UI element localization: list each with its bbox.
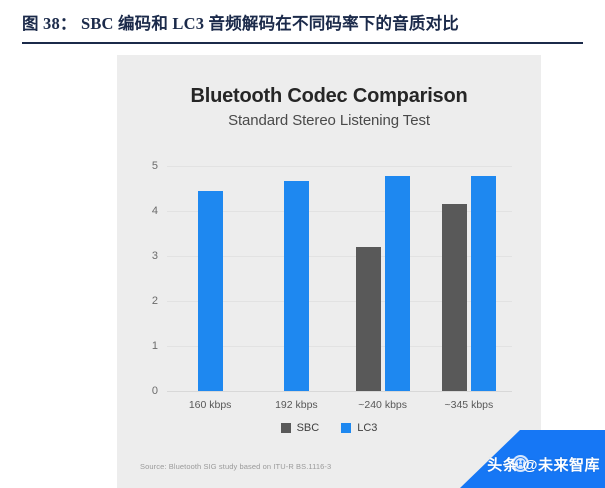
bar-group bbox=[253, 166, 339, 391]
figure-caption: 图 38： SBC 编码和 LC3 音频解码在不同码率下的音质对比 bbox=[22, 10, 591, 34]
y-axis-tick-label: 1 bbox=[152, 340, 158, 352]
y-axis-tick-label: 0 bbox=[152, 385, 158, 397]
bar-sbc[interactable] bbox=[442, 204, 467, 391]
legend-swatch-icon bbox=[281, 423, 291, 433]
bars-layer bbox=[167, 166, 512, 391]
bar-group bbox=[340, 166, 426, 391]
chart-source-note: Source: Bluetooth SIG study based on ITU… bbox=[140, 462, 331, 471]
y-axis-tick-label: 2 bbox=[152, 295, 158, 307]
legend-swatch-icon bbox=[341, 423, 351, 433]
bar-group bbox=[426, 166, 512, 391]
chart-subtitle: Standard Stereo Listening Test bbox=[117, 112, 541, 129]
plot-area: 012345 160 kbps192 kbps~240 kbps~345 kbp… bbox=[167, 166, 512, 391]
bar-sbc[interactable] bbox=[356, 247, 381, 391]
bar-lc3[interactable] bbox=[284, 181, 309, 391]
bar-lc3[interactable] bbox=[198, 191, 223, 391]
figure-header: 图 38： SBC 编码和 LC3 音频解码在不同码率下的音质对比 bbox=[0, 0, 605, 48]
x-axis-tick-label: ~345 kbps bbox=[414, 399, 524, 411]
header-divider bbox=[22, 42, 583, 44]
chart-title: Bluetooth Codec Comparison bbox=[117, 85, 541, 108]
legend-label: SBC bbox=[297, 422, 320, 434]
chart-legend: SBCLC3 bbox=[117, 422, 541, 434]
bar-lc3[interactable] bbox=[471, 176, 496, 391]
y-axis-tick-label: 3 bbox=[152, 250, 158, 262]
chart-panel: Bluetooth Codec Comparison Standard Ster… bbox=[117, 55, 541, 488]
legend-item-lc3[interactable]: LC3 bbox=[341, 422, 377, 434]
y-axis-tick-label: 5 bbox=[152, 160, 158, 172]
bar-lc3[interactable] bbox=[385, 176, 410, 391]
gridline: 0 bbox=[167, 391, 512, 392]
bar-group bbox=[167, 166, 253, 391]
y-axis-tick-label: 4 bbox=[152, 205, 158, 217]
legend-label: LC3 bbox=[357, 422, 377, 434]
legend-item-sbc[interactable]: SBC bbox=[281, 422, 320, 434]
